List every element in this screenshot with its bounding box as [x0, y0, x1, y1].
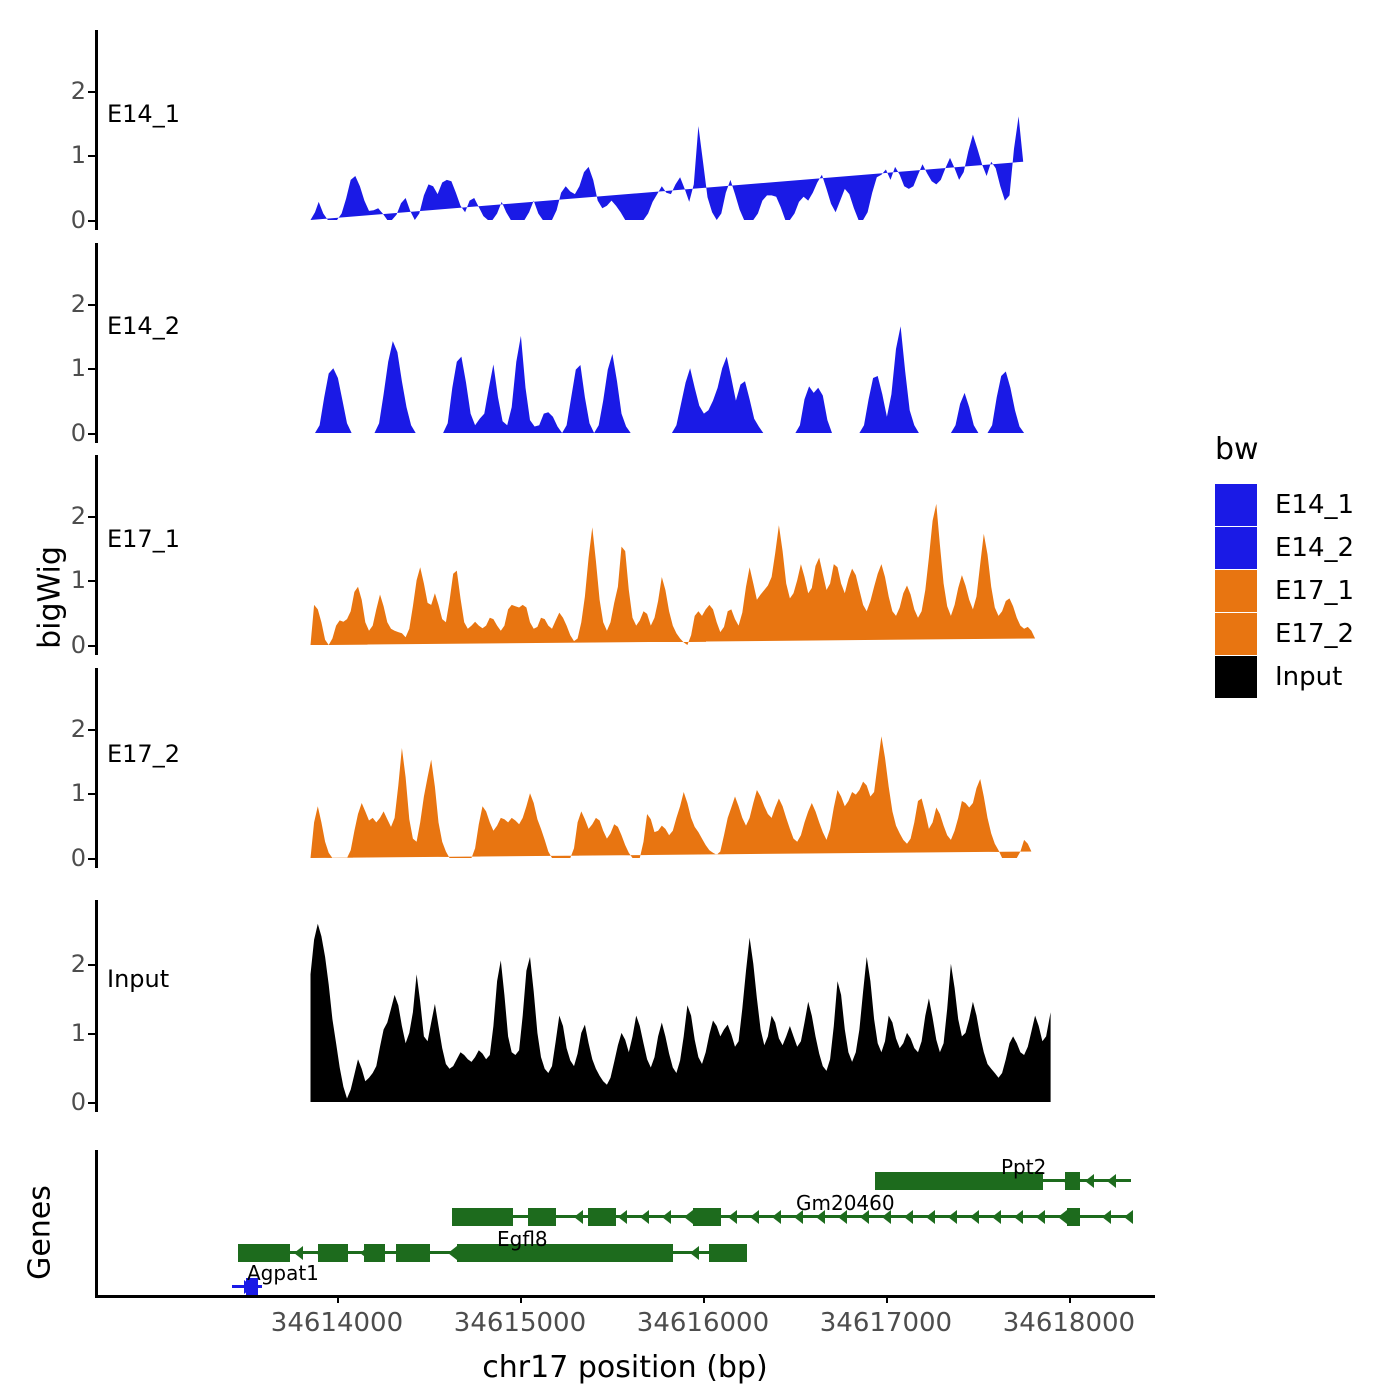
signal-area-e14_2 — [240, 243, 1122, 443]
y-tick — [88, 155, 95, 157]
y-tick — [88, 729, 95, 731]
strand-arrow-icon — [772, 1210, 781, 1224]
y-axis-line — [95, 668, 98, 868]
y-tick-label: 2 — [71, 77, 86, 105]
gene-label-egfl8: Egfl8 — [497, 1227, 548, 1251]
strand-arrow-icon — [1107, 1174, 1116, 1188]
y-tick-label: 2 — [71, 950, 86, 978]
strand-arrow-icon — [992, 1210, 1001, 1224]
legend-label: Input — [1275, 662, 1342, 692]
signal-area-input — [240, 900, 1122, 1112]
y-tick — [88, 645, 95, 647]
x-tick-label: 34618000 — [1003, 1308, 1135, 1338]
y-axis-line — [95, 243, 98, 443]
y-tick — [88, 1033, 95, 1035]
y-axis-line — [95, 455, 98, 655]
legend-swatch — [1215, 613, 1257, 655]
gene-exon — [528, 1208, 556, 1226]
strand-arrow-icon — [970, 1210, 979, 1224]
signal-area-e17_1 — [240, 455, 1122, 655]
gene-exon — [457, 1244, 673, 1262]
track-label-e17_2: E17_2 — [107, 740, 180, 768]
y-tick — [88, 91, 95, 93]
legend-swatch — [1215, 527, 1257, 569]
y-tick — [88, 220, 95, 222]
strand-arrow-icon — [1085, 1174, 1094, 1188]
track-label-e14_2: E14_2 — [107, 312, 180, 340]
strand-arrow-icon — [690, 1246, 699, 1260]
x-axis-label: chr17 position (bp) — [95, 1350, 1155, 1385]
strand-arrow-icon — [1102, 1210, 1111, 1224]
y-tick-label: 0 — [71, 206, 86, 234]
y-axis-title-bigwig: bigWig — [33, 528, 68, 668]
x-tick — [520, 1295, 522, 1303]
legend-swatch — [1215, 570, 1257, 612]
track-label-e14_1: E14_1 — [107, 100, 180, 128]
y-tick — [88, 858, 95, 860]
y-tick-label: 2 — [71, 502, 86, 530]
strand-arrow-icon — [948, 1210, 957, 1224]
x-tick-label: 34616000 — [637, 1308, 769, 1338]
gene-exon — [1067, 1208, 1080, 1226]
gene-axis-line — [95, 1150, 98, 1295]
legend-item-e17_2[interactable]: E17_2 — [1215, 612, 1354, 655]
strand-arrow-icon — [618, 1210, 627, 1224]
strand-arrow-icon — [294, 1246, 303, 1260]
strand-arrow-icon — [684, 1210, 693, 1224]
gene-exon — [452, 1208, 513, 1226]
gene-exon — [693, 1208, 721, 1226]
x-tick-label: 34614000 — [271, 1308, 403, 1338]
y-axis-title-genes: Genes — [23, 1163, 58, 1303]
strand-arrow-icon — [640, 1210, 649, 1224]
strand-arrow-icon — [1014, 1210, 1023, 1224]
strand-arrow-icon — [1058, 1210, 1067, 1224]
strand-arrow-icon — [904, 1210, 913, 1224]
gene-label-gm20460: Gm20460 — [796, 1191, 895, 1215]
legend-swatch — [1215, 484, 1257, 526]
x-tick — [886, 1295, 888, 1303]
gene-exon — [238, 1244, 290, 1262]
y-tick — [88, 580, 95, 582]
legend-item-e14_1[interactable]: E14_1 — [1215, 483, 1354, 526]
y-tick-label: 2 — [71, 290, 86, 318]
gene-exon — [318, 1244, 348, 1262]
y-tick — [88, 516, 95, 518]
gene-label-agpat1: Agpat1 — [247, 1261, 319, 1285]
strand-arrow-icon — [1036, 1210, 1045, 1224]
signal-area-e14_1 — [240, 30, 1122, 230]
y-tick — [88, 793, 95, 795]
y-tick-label: 1 — [71, 779, 86, 807]
x-tick — [337, 1295, 339, 1303]
plot-root: bigWig Genes 012E14_1012E14_2012E17_1012… — [0, 0, 1400, 1400]
strand-arrow-icon — [574, 1210, 583, 1224]
legend-item-e17_1[interactable]: E17_1 — [1215, 569, 1354, 612]
legend-label: E17_1 — [1275, 576, 1354, 606]
legend-entries: E14_1E14_2E17_1E17_2Input — [1215, 483, 1354, 698]
x-tick — [1069, 1295, 1071, 1303]
gene-exon — [588, 1208, 616, 1226]
legend-title: bw — [1215, 432, 1354, 467]
strand-arrow-icon — [662, 1210, 671, 1224]
gene-exon — [1065, 1172, 1080, 1190]
gene-exon — [396, 1244, 430, 1262]
track-label-input: Input — [107, 965, 169, 993]
y-tick-label: 1 — [71, 141, 86, 169]
x-tick-label: 34615000 — [454, 1308, 586, 1338]
y-tick — [88, 304, 95, 306]
y-tick-label: 0 — [71, 631, 86, 659]
strand-arrow-icon — [728, 1210, 737, 1224]
gene-exon — [709, 1244, 747, 1262]
strand-arrow-icon — [750, 1210, 759, 1224]
legend: bw E14_1E14_2E17_1E17_2Input — [1215, 432, 1354, 698]
y-tick-label: 0 — [71, 1088, 86, 1116]
x-tick — [703, 1295, 705, 1303]
legend-item-e14_2[interactable]: E14_2 — [1215, 526, 1354, 569]
gene-exon — [364, 1244, 385, 1262]
strand-arrow-icon — [448, 1246, 457, 1260]
x-axis-line — [95, 1295, 1155, 1298]
x-tick-label: 34617000 — [820, 1308, 952, 1338]
gene-label-ppt2: Ppt2 — [1001, 1155, 1046, 1179]
legend-label: E14_1 — [1275, 490, 1354, 520]
y-tick — [88, 433, 95, 435]
strand-arrow-icon — [926, 1210, 935, 1224]
track-label-e17_1: E17_1 — [107, 525, 180, 553]
legend-label: E14_2 — [1275, 533, 1354, 563]
y-tick-label: 1 — [71, 566, 86, 594]
y-axis-line — [95, 30, 98, 230]
signal-area-e17_2 — [240, 668, 1122, 868]
y-tick — [88, 964, 95, 966]
y-axis-line — [95, 900, 98, 1112]
y-tick-label: 1 — [71, 1019, 86, 1047]
legend-swatch — [1215, 656, 1257, 698]
legend-item-input[interactable]: Input — [1215, 655, 1354, 698]
y-tick-label: 2 — [71, 715, 86, 743]
strand-arrow-icon — [1124, 1210, 1133, 1224]
y-tick-label: 0 — [71, 844, 86, 872]
y-tick — [88, 368, 95, 370]
y-tick-label: 0 — [71, 419, 86, 447]
legend-label: E17_2 — [1275, 619, 1354, 649]
y-tick — [88, 1102, 95, 1104]
y-tick-label: 1 — [71, 354, 86, 382]
